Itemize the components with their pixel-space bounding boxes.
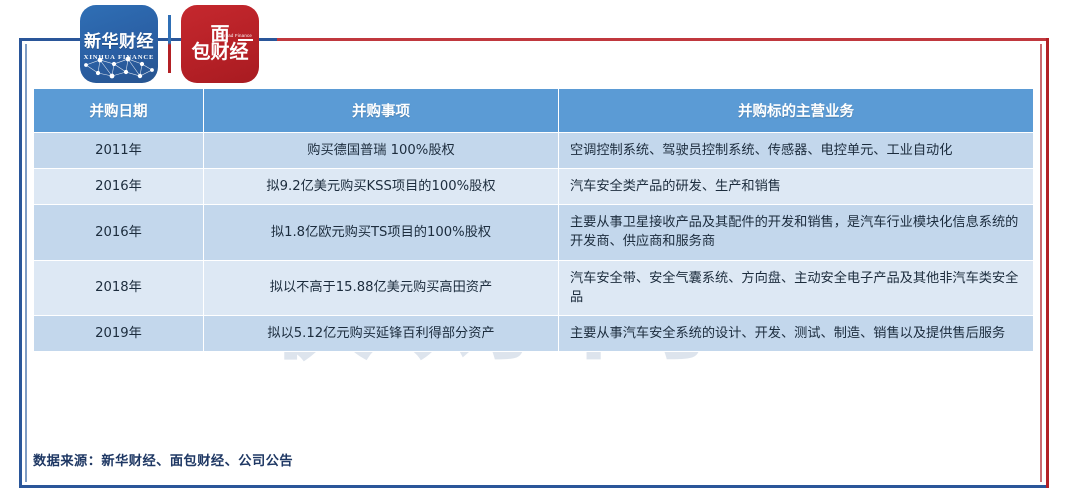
column-header-business: 并购标的主营业务: [559, 89, 1034, 133]
table-row: 2011年 购买德国普瑞 100%股权 空调控制系统、驾驶员控制系统、传感器、电…: [34, 133, 1034, 169]
network-graphic-icon: [80, 51, 158, 81]
logo-divider: [168, 15, 171, 73]
table-row: 2016年 拟9.2亿美元购买KSS项目的100%股权 汽车安全类产品的研发、生…: [34, 169, 1034, 205]
cell-date: 2019年: [34, 315, 204, 351]
column-header-item: 并购事项: [204, 89, 559, 133]
table-body: 2011年 购买德国普瑞 100%股权 空调控制系统、驾驶员控制系统、传感器、电…: [34, 133, 1034, 352]
cell-item: 拟1.8亿欧元购买TS项目的100%股权: [204, 205, 559, 260]
cell-item: 拟9.2亿美元购买KSS项目的100%股权: [204, 169, 559, 205]
mianbao-caijing-logo: 面 包财经 Bread Finance: [181, 5, 259, 83]
cell-item: 购买德国普瑞 100%股权: [204, 133, 559, 169]
cell-business: 汽车安全类产品的研发、生产和销售: [559, 169, 1034, 205]
table-row: 2018年 拟以不高于15.88亿美元购买高田资产 汽车安全带、安全气囊系统、方…: [34, 260, 1034, 315]
cell-business: 空调控制系统、驾驶员控制系统、传感器、电控单元、工业自动化: [559, 133, 1034, 169]
table-header-row: 并购日期 并购事项 并购标的主营业务: [34, 89, 1034, 133]
cell-date: 2018年: [34, 260, 204, 315]
cell-item: 拟以不高于15.88亿美元购买高田资产: [204, 260, 559, 315]
table-row: 2019年 拟以5.12亿元购买延锋百利得部分资产 主要从事汽车安全系统的设计、…: [34, 315, 1034, 351]
acquisitions-table-container: 并购日期 并购事项 并购标的主营业务 2011年 购买德国普瑞 100%股权 空…: [33, 88, 1033, 352]
cell-date: 2016年: [34, 169, 204, 205]
branding-logo-band: 新华财经 XINHUA FINANCE 面 包财经 Bread Finance: [80, 5, 259, 83]
mianbao-logo-bar: [238, 39, 253, 41]
xinhua-logo-cn-text: 新华财经: [84, 34, 154, 51]
cell-business: 主要从事卫星接收产品及其配件的开发和销售，是汽车行业模块化信息系统的开发商、供应…: [559, 205, 1034, 260]
acquisitions-table: 并购日期 并购事项 并购标的主营业务 2011年 购买德国普瑞 100%股权 空…: [33, 88, 1034, 352]
mianbao-logo-en-text: Bread Finance: [221, 33, 252, 38]
frame-top-right-rule: [277, 38, 1049, 41]
mianbao-logo-cn-bottom: 包财经: [191, 43, 248, 61]
column-header-date: 并购日期: [34, 89, 204, 133]
frame-right-rule: [1046, 38, 1049, 488]
cell-business: 汽车安全带、安全气囊系统、方向盘、主动安全电子产品及其他非汽车类安全品: [559, 260, 1034, 315]
frame-inner-right-rule: [1040, 44, 1042, 482]
xinhua-finance-logo: 新华财经 XINHUA FINANCE: [80, 5, 158, 83]
cell-item: 拟以5.12亿元购买延锋百利得部分资产: [204, 315, 559, 351]
table-row: 2016年 拟1.8亿欧元购买TS项目的100%股权 主要从事卫星接收产品及其配…: [34, 205, 1034, 260]
frame-bottom-rule: [19, 485, 1048, 488]
cell-date: 2016年: [34, 205, 204, 260]
data-source-note: 数据来源：新华财经、面包财经、公司公告: [33, 450, 293, 469]
frame-inner-left-rule: [25, 44, 27, 482]
cell-date: 2011年: [34, 133, 204, 169]
frame-left-rule: [19, 38, 22, 488]
cell-business: 主要从事汽车安全系统的设计、开发、测试、制造、销售以及提供售后服务: [559, 315, 1034, 351]
